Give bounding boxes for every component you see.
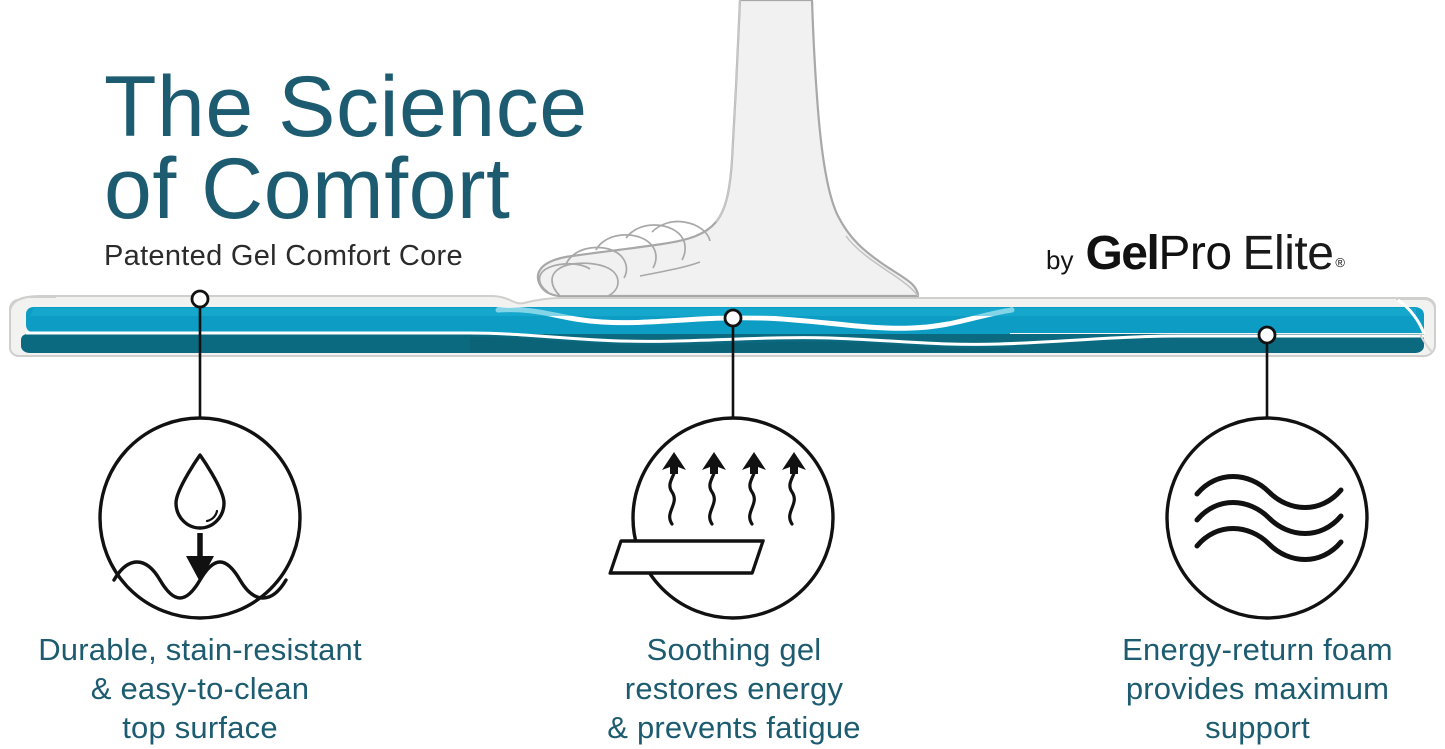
brand-gel-text: Gel xyxy=(1085,226,1158,281)
page-title: The Science of Comfort xyxy=(104,66,724,231)
feature-caption-top-surface: Durable, stain-resistant & easy-to-clean… xyxy=(0,630,400,747)
infographic-canvas: The Science of Comfort Patented Gel Comf… xyxy=(0,0,1445,749)
registered-trademark-icon: ® xyxy=(1335,255,1345,270)
gel-comfort-core-label: Patented Gel Comfort Core xyxy=(104,240,463,273)
brand-elite-text: Elite xyxy=(1243,226,1334,281)
brand-by-text: by xyxy=(1046,245,1073,276)
brand-pro-text: Pro xyxy=(1158,226,1231,281)
triple-wave-lines-icon xyxy=(1167,418,1367,618)
mat-cross-section xyxy=(10,296,1435,356)
feature-caption-gel-core: Soothing gel restores energy & prevents … xyxy=(545,630,923,747)
brand-lockup: by Gel Pro Elite ® xyxy=(1046,226,1345,281)
rising-heat-arrows-mat-icon xyxy=(610,418,833,618)
feature-caption-foam-support: Energy-return foam provides maximum supp… xyxy=(1070,630,1445,747)
droplet-arrow-water-icon xyxy=(100,418,300,618)
callout-leader-lines xyxy=(192,291,1275,420)
